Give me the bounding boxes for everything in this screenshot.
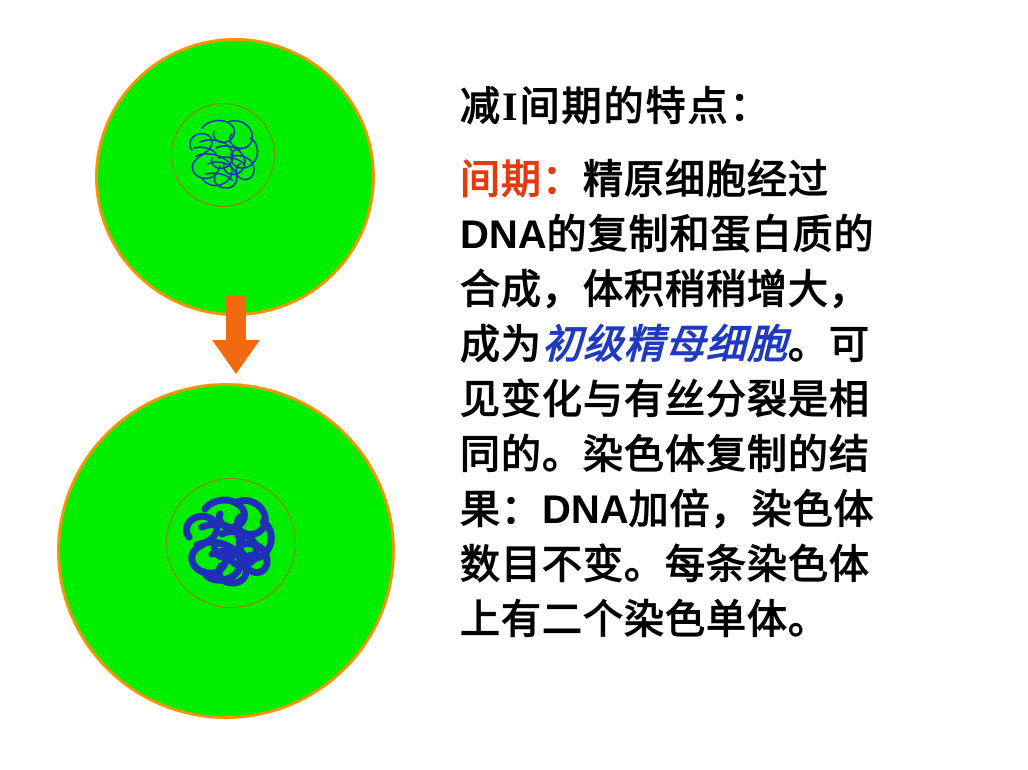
page-title: 减I间期的特点： [460, 74, 772, 132]
text-run-black: 。可 [788, 322, 870, 367]
text-run-latin: DNA [460, 213, 547, 257]
body-line: 合成，体积稍稍增大， [460, 262, 960, 317]
text-run-black: 成为 [460, 322, 542, 367]
body-line: 上有二个染色单体。 [460, 592, 960, 647]
text-run-black: 同的。染色体复制的结 [460, 432, 870, 477]
body-line: DNA的复制和蛋白质的 [460, 207, 960, 262]
cell-diagram-panel [0, 0, 440, 770]
cell-after-replication [57, 383, 395, 719]
body-line: 数目不变。每条染色体 [460, 537, 960, 592]
text-run-black: 上有二个染色单体。 [460, 597, 829, 642]
text-run-blue: 初级精母细胞 [542, 322, 788, 367]
text-run-black: 见变化与有丝分裂是相 [460, 377, 870, 422]
cell-before-replication [95, 38, 375, 316]
text-run-black: 精原细胞经过 [583, 157, 829, 202]
explanation-text-panel: 减I间期的特点： 间期：精原细胞经过DNA的复制和蛋白质的合成，体积稍稍增大，成… [440, 0, 1028, 770]
body-line: 成为初级精母细胞。可 [460, 317, 960, 372]
nucleus-after-replication [166, 478, 296, 608]
body-line: 间期：精原细胞经过 [460, 152, 960, 207]
text-run-latin: DNA [542, 488, 629, 532]
text-run-black: 果： [460, 487, 542, 532]
chromatin-threads-thick [167, 479, 297, 609]
text-run-black: 合成，体积稍稍增大， [460, 267, 870, 312]
nucleus-before-replication [171, 103, 275, 207]
body-line: 果：DNA加倍，染色体 [460, 482, 960, 537]
chromatin-threads-thin [172, 104, 276, 208]
body-paragraph: 间期：精原细胞经过DNA的复制和蛋白质的合成，体积稍稍增大，成为初级精母细胞。可… [460, 152, 960, 647]
body-line: 同的。染色体复制的结 [460, 427, 960, 482]
slide-canvas: 减I间期的特点： 间期：精原细胞经过DNA的复制和蛋白质的合成，体积稍稍增大，成… [0, 0, 1028, 770]
text-run-red: 间期： [460, 157, 583, 202]
downward-transition-arrow [198, 296, 274, 376]
text-run-black: 加倍，染色体 [629, 487, 875, 532]
text-run-black: 数目不变。每条染色体 [460, 542, 870, 587]
text-run-black: 的复制和蛋白质的 [547, 212, 875, 257]
body-line: 见变化与有丝分裂是相 [460, 372, 960, 427]
